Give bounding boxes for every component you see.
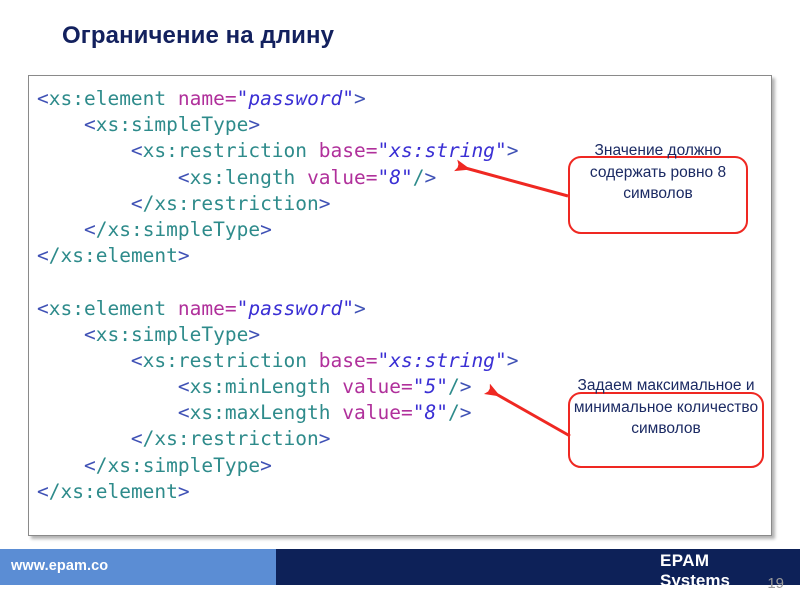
code-token-br: < — [37, 244, 49, 267]
code-token-val: xs:string — [389, 349, 495, 372]
code-token-br: > — [260, 218, 272, 241]
code-token-attr: name — [178, 87, 225, 110]
callout-label-minmax: Задаем максимальное и минимальное количе… — [560, 375, 772, 440]
code-token-val: password — [248, 87, 342, 110]
code-token-br: > — [460, 401, 472, 424]
code-token-q: " — [495, 349, 507, 372]
code-line: <xs:maxLength value="8"/> — [37, 400, 518, 426]
code-token-tag: xs:element — [49, 87, 166, 110]
code-token-tag: xs:element — [61, 244, 178, 267]
code-token-eq: = — [366, 166, 378, 189]
callout-label-length: Значение должно содержать ровно 8 символ… — [566, 140, 750, 205]
code-token-q: " — [378, 166, 390, 189]
code-token-slash: / — [448, 375, 460, 398]
code-line: </xs:simpleType> — [37, 217, 518, 243]
code-token-plain — [307, 349, 319, 372]
code-token-br: > — [460, 375, 472, 398]
code-line: <xs:element name="password"> — [37, 296, 518, 322]
code-token-br: > — [319, 192, 331, 215]
code-line: <xs:length value="8"/> — [37, 165, 518, 191]
code-token-plain — [331, 401, 343, 424]
code-token-slash: / — [96, 454, 108, 477]
code-token-tag: xs:restriction — [143, 349, 307, 372]
code-token-br: > — [354, 297, 366, 320]
code-line: </xs:element> — [37, 243, 518, 269]
code-token-eq: = — [225, 87, 237, 110]
code-token-slash: / — [143, 192, 155, 215]
code-token-plain — [295, 166, 307, 189]
code-token-tag: xs:simpleType — [107, 218, 260, 241]
code-token-attr: value — [307, 166, 366, 189]
code-token-plain — [166, 87, 178, 110]
code-token-br: < — [37, 297, 49, 320]
code-listing: <xs:element name="password"> <xs:simpleT… — [37, 86, 518, 505]
code-token-br: > — [178, 480, 190, 503]
code-token-br: > — [425, 166, 437, 189]
code-line: <xs:simpleType> — [37, 322, 518, 348]
code-token-br: < — [131, 139, 143, 162]
code-token-br: > — [319, 427, 331, 450]
code-token-q: " — [495, 139, 507, 162]
code-line: </xs:simpleType> — [37, 453, 518, 479]
code-blank-line — [37, 269, 518, 295]
code-token-br: < — [131, 349, 143, 372]
code-token-q: " — [342, 297, 354, 320]
code-token-eq: = — [366, 139, 378, 162]
brand-name: EPAM — [660, 551, 780, 571]
code-token-q: " — [436, 401, 448, 424]
code-token-tag: xs:simpleType — [96, 113, 249, 136]
code-token-eq: = — [401, 375, 413, 398]
code-token-br: > — [354, 87, 366, 110]
code-token-tag: xs:simpleType — [107, 454, 260, 477]
code-token-br: > — [507, 139, 519, 162]
code-token-br: < — [131, 192, 143, 215]
code-token-br: > — [507, 349, 519, 372]
code-token-tag: xs:minLength — [190, 375, 331, 398]
code-token-q: " — [237, 297, 249, 320]
code-line: </xs:restriction> — [37, 426, 518, 452]
code-token-tag: xs:length — [190, 166, 296, 189]
code-token-br: > — [248, 323, 260, 346]
code-token-q: " — [413, 401, 425, 424]
code-token-plain — [166, 297, 178, 320]
code-token-br: < — [84, 218, 96, 241]
code-token-val: xs:string — [389, 139, 495, 162]
code-line: </xs:restriction> — [37, 191, 518, 217]
code-token-br: < — [178, 401, 190, 424]
code-token-slash: / — [143, 427, 155, 450]
code-token-br: > — [178, 244, 190, 267]
code-token-tag: xs:maxLength — [190, 401, 331, 424]
code-token-val: password — [248, 297, 342, 320]
code-token-val: 5 — [424, 375, 436, 398]
code-token-tag: xs:element — [49, 297, 166, 320]
code-token-attr: value — [342, 401, 401, 424]
code-line: <xs:minLength value="5"/> — [37, 374, 518, 400]
code-token-slash: / — [448, 401, 460, 424]
code-token-br: > — [248, 113, 260, 136]
code-token-attr: value — [342, 375, 401, 398]
code-token-br: < — [84, 113, 96, 136]
code-token-tag: xs:restriction — [143, 139, 307, 162]
code-token-plain — [331, 375, 343, 398]
code-token-eq: = — [366, 349, 378, 372]
code-token-plain — [307, 139, 319, 162]
footer-website-link[interactable]: www.epam.co — [11, 558, 108, 574]
page-title: Ограничение на длину — [62, 22, 334, 50]
code-token-br: < — [178, 375, 190, 398]
code-token-slash: / — [413, 166, 425, 189]
code-token-attr: base — [319, 349, 366, 372]
code-token-val: 8 — [389, 166, 401, 189]
code-token-attr: base — [319, 139, 366, 162]
code-token-q: " — [378, 349, 390, 372]
code-token-tag: xs:restriction — [154, 427, 318, 450]
code-token-tag: xs:element — [61, 480, 178, 503]
code-token-eq: = — [225, 297, 237, 320]
code-token-val: 8 — [424, 401, 436, 424]
code-token-br: < — [37, 480, 49, 503]
page-number: 19 — [767, 575, 784, 592]
code-token-br: < — [131, 427, 143, 450]
code-line: <xs:restriction base="xs:string"> — [37, 348, 518, 374]
code-token-q: " — [342, 87, 354, 110]
code-token-br: > — [260, 454, 272, 477]
code-token-slash: / — [96, 218, 108, 241]
code-token-q: " — [237, 87, 249, 110]
code-token-br: < — [178, 166, 190, 189]
code-token-q: " — [401, 166, 413, 189]
code-line: <xs:element name="password"> — [37, 86, 518, 112]
code-line: </xs:element> — [37, 479, 518, 505]
code-token-br: < — [84, 454, 96, 477]
code-token-slash: / — [49, 480, 61, 503]
code-token-q: " — [436, 375, 448, 398]
code-token-slash: / — [49, 244, 61, 267]
code-line: <xs:restriction base="xs:string"> — [37, 138, 518, 164]
code-token-br: < — [37, 87, 49, 110]
code-token-tag: xs:simpleType — [96, 323, 249, 346]
code-token-tag: xs:restriction — [154, 192, 318, 215]
brand-subtitle: Systems — [660, 571, 780, 591]
code-token-q: " — [413, 375, 425, 398]
code-token-q: " — [378, 139, 390, 162]
code-token-br: < — [84, 323, 96, 346]
code-token-eq: = — [401, 401, 413, 424]
code-line: <xs:simpleType> — [37, 112, 518, 138]
brand-logo: EPAM Systems — [660, 551, 780, 595]
code-token-attr: name — [178, 297, 225, 320]
